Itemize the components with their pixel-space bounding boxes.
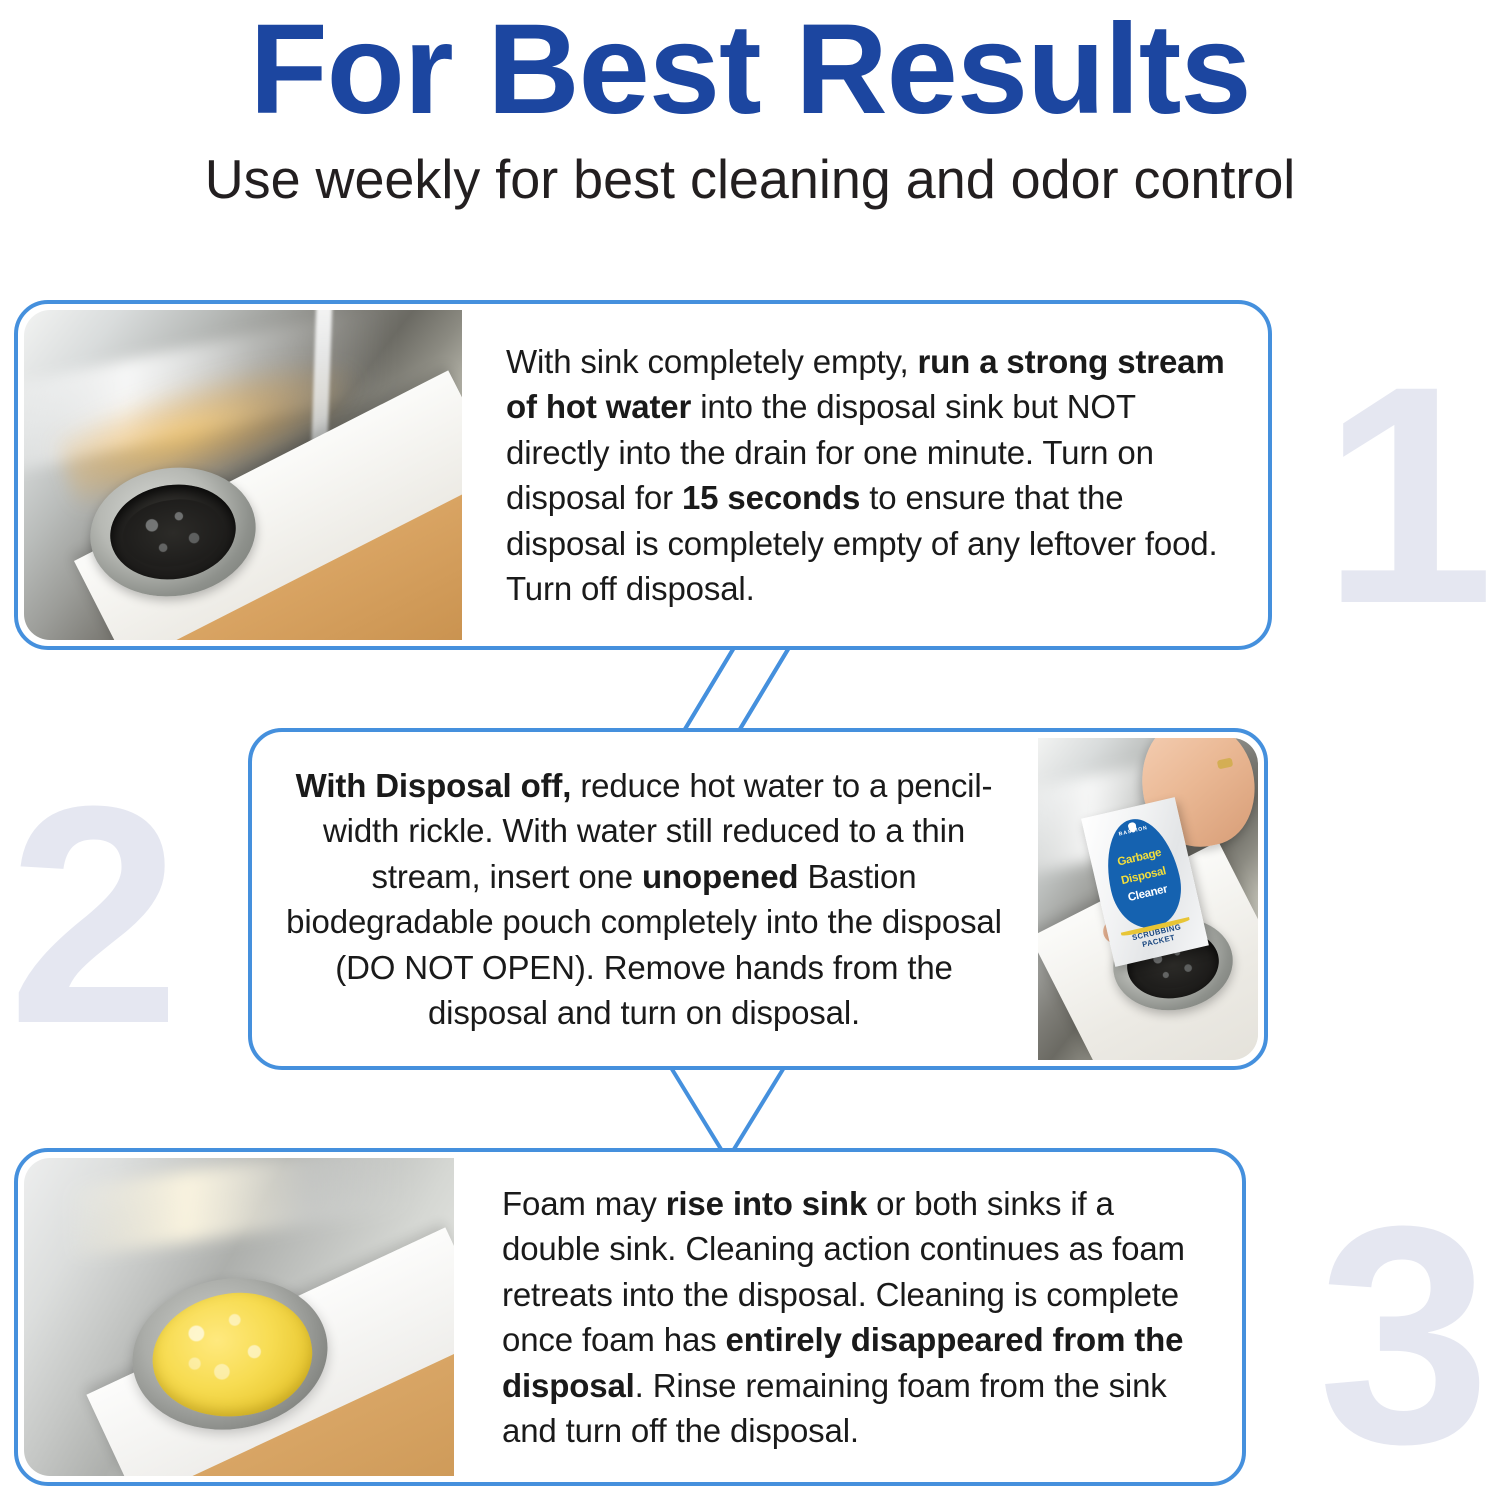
step-1-photo xyxy=(24,310,462,640)
step-card-3: Foam may rise into sink or both sinks if… xyxy=(14,1148,1246,1486)
step-1-text-seg-1: With sink completely empty, xyxy=(506,343,917,380)
step-2-text-bold-1: With Disposal off, xyxy=(296,767,572,804)
step-2-text-bold-2: unopened xyxy=(642,858,798,895)
drain-debris xyxy=(118,493,227,573)
drain-hole xyxy=(104,477,242,588)
page-title: For Best Results xyxy=(0,0,1500,136)
step-3-photo xyxy=(24,1158,454,1476)
step-1-text: With sink completely empty, run a strong… xyxy=(462,300,1272,650)
yellow-foam xyxy=(143,1282,321,1429)
step-number-3: 3 xyxy=(1318,1180,1490,1490)
step-3-text-seg-1: Foam may xyxy=(502,1185,666,1222)
foam-highlight xyxy=(64,1158,414,1258)
step-1-text-bold-2: 15 seconds xyxy=(682,479,860,516)
step-2-photo: BASTION Garbage Disposal Cleaner SCRUBBI… xyxy=(1038,738,1258,1060)
step-3-text: Foam may rise into sink or both sinks if… xyxy=(454,1148,1246,1486)
sink-photo-art-2: BASTION Garbage Disposal Cleaner SCRUBBI… xyxy=(1038,738,1258,1060)
step-3-text-bold-1: rise into sink xyxy=(666,1185,867,1222)
header: For Best Results Use weekly for best cle… xyxy=(0,0,1500,250)
sink-photo-art xyxy=(24,310,462,640)
page-subtitle: Use weekly for best cleaning and odor co… xyxy=(15,148,1485,210)
step-card-2: With Disposal off, reduce hot water to a… xyxy=(248,728,1268,1070)
step-card-1: With sink completely empty, run a strong… xyxy=(14,300,1272,650)
ring-icon xyxy=(1216,757,1233,769)
step-number-2: 2 xyxy=(8,760,180,1070)
infographic-page: For Best Results Use weekly for best cle… xyxy=(0,0,1500,1497)
step-2-text: With Disposal off, reduce hot water to a… xyxy=(248,728,1038,1070)
foam-photo-art xyxy=(24,1158,454,1476)
packet-droplet-badge: BASTION Garbage Disposal Cleaner xyxy=(1097,812,1189,934)
step-number-1: 1 xyxy=(1322,340,1494,650)
